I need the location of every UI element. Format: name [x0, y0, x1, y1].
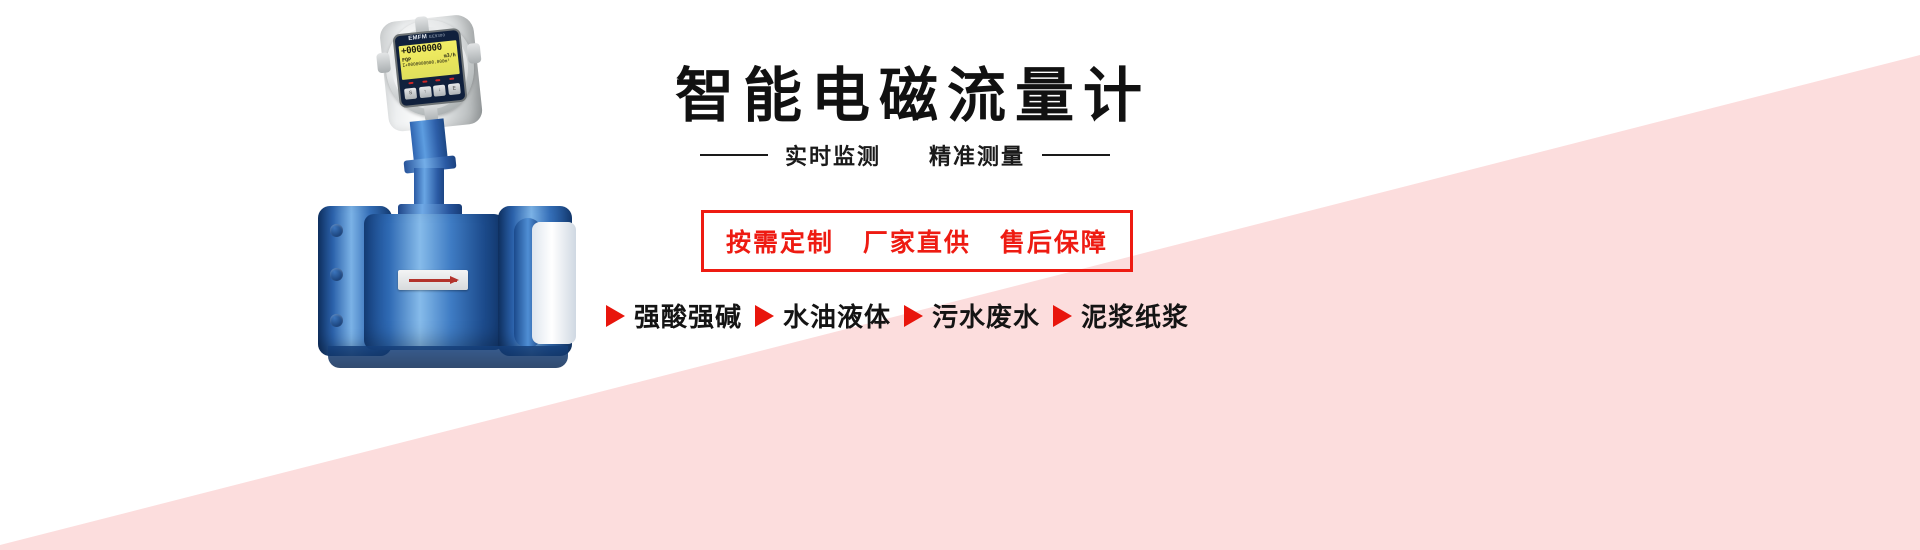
lcd-screen: +0000000 FQP m3/h Σ+0000000000.000m³ [399, 40, 460, 80]
promo-item-factory: 厂家直供 [863, 228, 971, 257]
led-indicator [422, 80, 427, 83]
banner-title: 智能电磁流量计 [675, 48, 1151, 133]
keypad-button: ↓ [433, 85, 446, 97]
led-indicator [409, 82, 414, 85]
led-indicator [449, 78, 454, 81]
lcd-brand-text: EMFM [408, 34, 427, 42]
pipe-liner [532, 222, 576, 344]
triangle-right-icon [755, 305, 774, 327]
subtitle-left-text: 实时监测 [785, 139, 881, 171]
flange-bolt [330, 224, 343, 237]
flange-bolt [330, 314, 343, 327]
triangle-right-icon [1053, 305, 1072, 327]
feature-item-slurry-pulp: 泥浆纸浆 [1053, 297, 1189, 334]
flange-bolt [330, 268, 343, 281]
feature-item-sewage: 污水废水 [904, 297, 1040, 334]
lcd-model-text: EE9300 [429, 32, 445, 39]
flow-direction-arrow-icon [398, 270, 468, 290]
lug [376, 52, 391, 73]
feature-item-acid-alkali: 强酸强碱 [606, 297, 742, 334]
product-banner: EMFMEE9300 +0000000 FQP m3/h Σ+000000000… [0, 0, 1920, 550]
flowmeter-product-image: EMFMEE9300 +0000000 FQP m3/h Σ+000000000… [300, 8, 620, 398]
lug [467, 43, 482, 64]
led-indicator [435, 79, 440, 82]
keypad-button: ↑ [419, 86, 432, 98]
feature-item-water-oil: 水油液体 [755, 297, 891, 334]
keypad-button: S [404, 88, 417, 100]
lcd-keypad: S ↑ ↓ E [404, 83, 461, 100]
keypad-button: E [448, 83, 461, 95]
lcd-panel: EMFMEE9300 +0000000 FQP m3/h Σ+000000000… [395, 30, 466, 106]
subtitle-right-text: 精准测量 [929, 139, 1025, 171]
banner-text-block: 智能电磁流量计 实时监测 精准测量 按需定制 厂家直供 售后保障 强酸强碱 水油… [600, 0, 1700, 550]
feature-label: 强酸强碱 [634, 297, 742, 334]
triangle-right-icon [606, 305, 625, 327]
triangle-right-icon [904, 305, 923, 327]
feature-label: 泥浆纸浆 [1081, 297, 1189, 334]
subtitle-rule-left [700, 154, 768, 156]
promo-item-custom: 按需定制 [726, 228, 834, 257]
subtitle-rule-right [1042, 154, 1110, 156]
banner-subtitle-row: 实时监测 精准测量 [700, 139, 1110, 171]
feature-list: 强酸强碱 水油液体 污水废水 泥浆纸浆 [606, 297, 1189, 334]
feature-label: 污水废水 [932, 297, 1040, 334]
meter-base-shadow [328, 346, 568, 368]
feature-label: 水油液体 [783, 297, 891, 334]
promo-item-warranty: 售后保障 [1000, 228, 1108, 257]
promo-box: 按需定制 厂家直供 售后保障 [701, 210, 1133, 272]
